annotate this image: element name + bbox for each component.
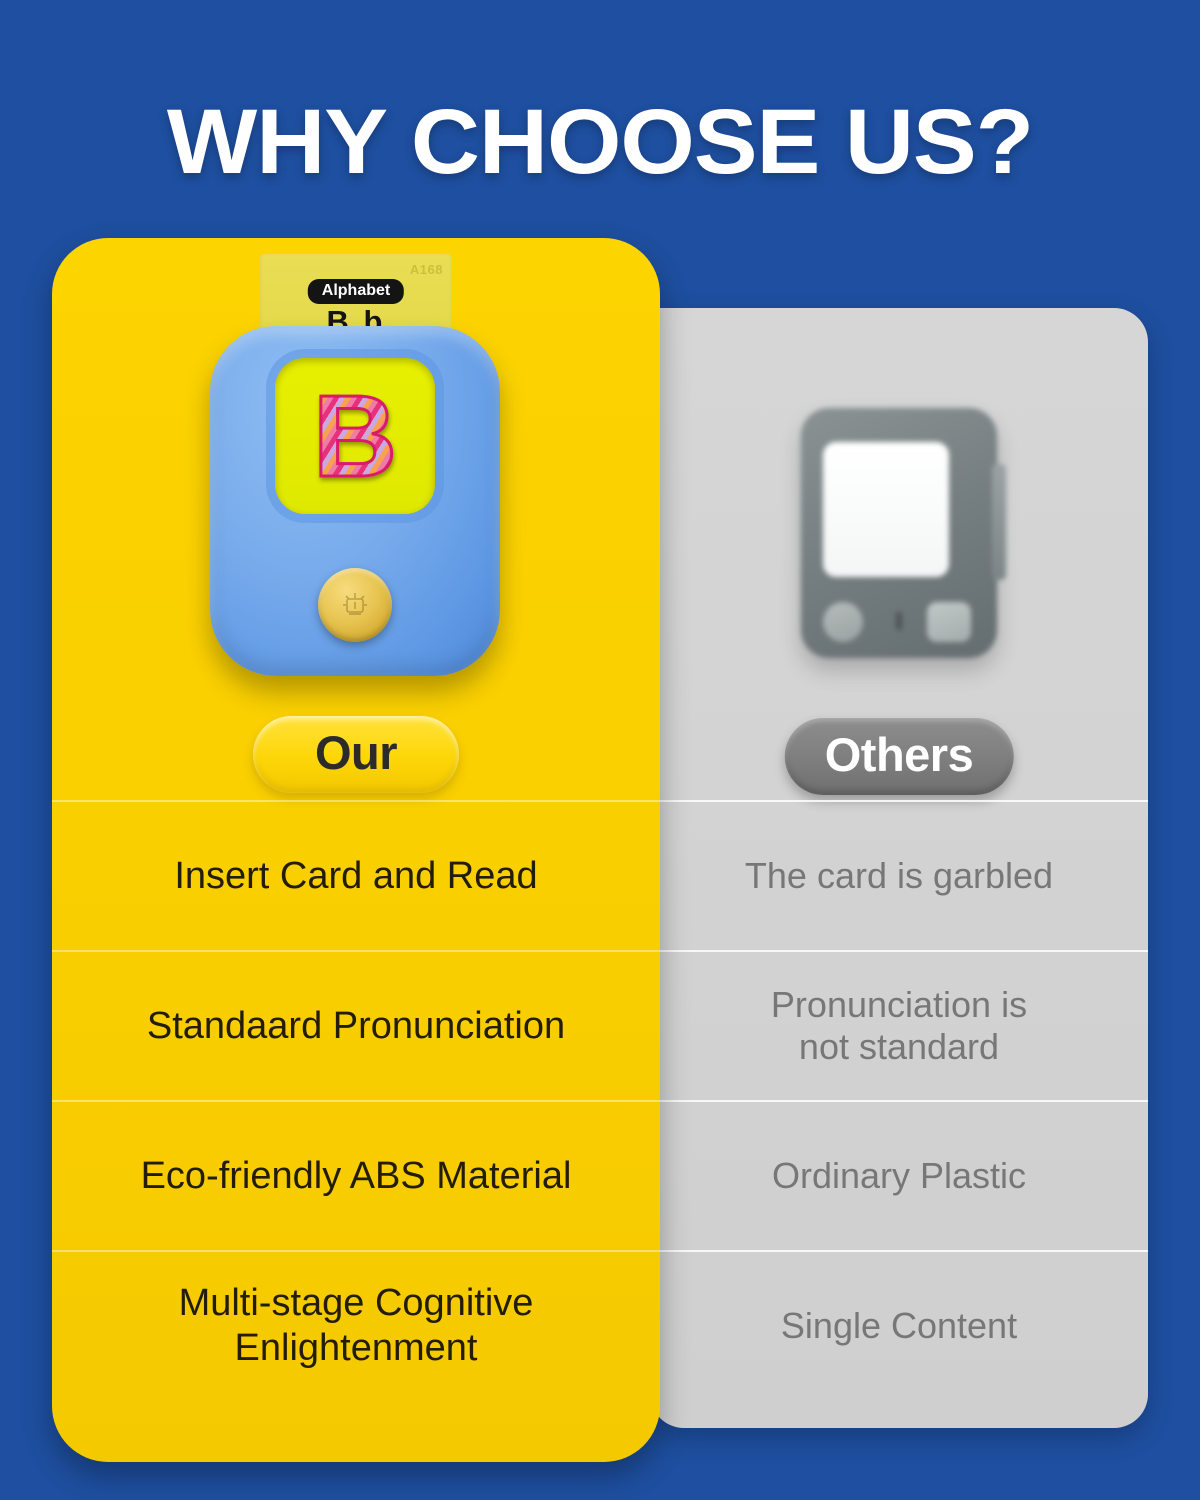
our-device-screen: B <box>275 358 435 514</box>
others-device-square-button <box>927 602 971 642</box>
our-feature-list: Insert Card and Read Standaard Pronuncia… <box>52 800 660 1400</box>
our-feature-label: Eco-friendly ABS Material <box>141 1154 572 1199</box>
others-feature-row: The card is garbled <box>650 800 1148 950</box>
others-feature-label: Pronunciation is not standard <box>771 984 1027 1069</box>
others-feature-list: The card is garbled Pronunciation is not… <box>650 800 1148 1400</box>
generic-gray-device-icon <box>801 408 997 658</box>
others-product-image <box>650 308 1148 708</box>
others-feature-label: The card is garbled <box>745 855 1053 897</box>
our-feature-row: Eco-friendly ABS Material <box>52 1100 660 1250</box>
power-button-icon <box>318 568 392 642</box>
others-device-screen <box>823 442 949 577</box>
our-badge: Our <box>253 716 459 793</box>
our-device-body: B <box>210 326 500 676</box>
our-feature-label: Multi-stage Cognitive Enlightenment <box>179 1281 534 1371</box>
others-device-card-slot <box>896 612 902 630</box>
our-feature-row: Insert Card and Read <box>52 800 660 950</box>
screen-letter-label: B <box>313 378 397 494</box>
others-feature-row: Ordinary Plastic <box>650 1100 1148 1250</box>
page-title: WHY CHOOSE US? <box>0 96 1200 188</box>
others-panel: Others The card is garbled Pronunciation… <box>650 308 1148 1428</box>
others-feature-row: Pronunciation is not standard <box>650 950 1148 1100</box>
others-device-side-button <box>992 464 1006 580</box>
card-code-label: A168 <box>410 262 443 277</box>
our-feature-label: Insert Card and Read <box>174 854 537 899</box>
others-feature-label: Ordinary Plastic <box>772 1155 1026 1197</box>
others-device-round-button <box>823 602 863 642</box>
power-button-glyph <box>339 590 371 620</box>
our-product-image: A168 Alphabet B b B <box>52 238 660 708</box>
others-feature-row: Single Content <box>650 1250 1148 1400</box>
our-panel: A168 Alphabet B b B <box>52 238 660 1462</box>
others-feature-label: Single Content <box>781 1305 1017 1347</box>
infographic-root: WHY CHOOSE US? Others The card is garble… <box>0 0 1200 1500</box>
others-badge: Others <box>785 718 1014 795</box>
card-category-badge: Alphabet <box>308 279 404 304</box>
our-feature-row: Multi-stage Cognitive Enlightenment <box>52 1250 660 1400</box>
our-feature-label: Standaard Pronunciation <box>147 1004 565 1049</box>
our-feature-row: Standaard Pronunciation <box>52 950 660 1100</box>
